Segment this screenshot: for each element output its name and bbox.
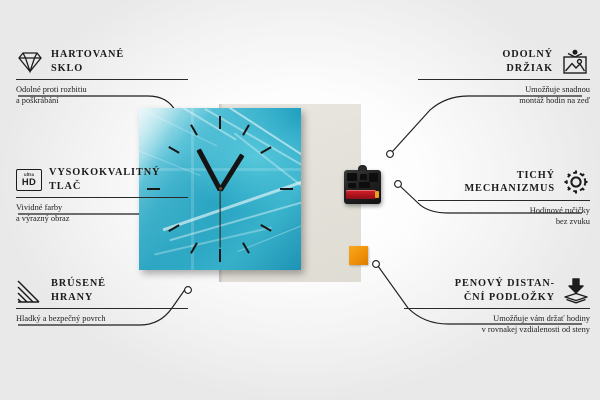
feature-title-line2: TLAČ — [49, 180, 160, 194]
feature-tempered-glass[interactable]: HARTOVANÉ SKLO Odolné proti rozbitiu a p… — [16, 48, 188, 107]
hour-marker — [219, 116, 221, 129]
feature-desc-line2: v rovnakej vzdialenosti od steny — [404, 324, 590, 335]
second-hand — [219, 190, 220, 248]
feature-title-line1: PENOVÝ DISTAN- — [455, 277, 555, 291]
feature-title-line1: HARTOVANÉ — [51, 48, 124, 62]
battery-plus-terminal — [375, 191, 379, 198]
feature-desc-line2: a poškrábání — [16, 95, 188, 106]
feature-polished-edges[interactable]: BRÚSENÉ HRANY Hladký a bezpečný povrch — [16, 277, 188, 324]
feature-foam-spacers[interactable]: PENOVÝ DISTAN- ČNÍ PODLOŽKY Umožňuje vám… — [404, 277, 590, 336]
feature-title-line1: BRÚSENÉ — [51, 277, 106, 291]
feature-desc-line1: Hodinové ručičky — [418, 205, 590, 216]
feature-divider — [404, 308, 590, 309]
feature-divider — [418, 79, 590, 80]
feature-title-line1: ODOLNÝ — [502, 48, 553, 62]
foam-spacer-pad — [349, 246, 368, 265]
diamond-icon — [16, 50, 44, 74]
gear-icon — [562, 168, 590, 196]
diagonal-hatch-icon — [16, 279, 44, 303]
hour-marker — [280, 188, 293, 190]
feature-title-line1: TICHÝ — [464, 169, 555, 183]
feature-desc-line1: Umožňuje vám držať hodiny — [404, 313, 590, 324]
feature-desc-line1: Odolné proti rozbitiu — [16, 84, 188, 95]
feature-high-quality-print[interactable]: ultra HD VYSOKOKVALITNÝ TLAČ Vividné far… — [16, 166, 188, 225]
feature-divider — [16, 197, 188, 198]
connector-dot-mechanism — [395, 181, 402, 188]
feature-desc-line1: Hladký a bezpečný povrch — [16, 313, 188, 324]
feature-desc-line1: Umožňuje snadnou — [418, 84, 590, 95]
feature-silent-mechanism[interactable]: TICHÝ MECHANIZMUS Hodinové ručičky bez z… — [418, 168, 590, 228]
feature-divider — [16, 308, 188, 309]
feature-title-line1: VYSOKOKVALITNÝ — [49, 166, 160, 180]
feature-desc-line1: Vividné farby — [16, 202, 188, 213]
clock-center-pin — [219, 187, 222, 190]
arrow-onto-layers-icon — [562, 278, 590, 304]
feature-title-line2: SKLO — [51, 62, 124, 76]
connector-dot-foam — [373, 261, 380, 268]
ultra-hd-badge-icon: ultra HD — [16, 169, 42, 191]
feature-divider — [16, 79, 188, 80]
badge-hd-label: HD — [22, 177, 36, 186]
feature-title-line2: ČNÍ PODLOŽKY — [455, 291, 555, 305]
product-feature-infographic: HARTOVANÉ SKLO Odolné proti rozbitiu a p… — [0, 0, 600, 400]
feature-durable-hanger[interactable]: ODOLNÝ DRŽIAK Umožňuje snadnou montáž ho… — [418, 48, 590, 107]
feature-title-line2: HRANY — [51, 291, 106, 305]
feature-desc-line2: a výrazný obraz — [16, 213, 188, 224]
feature-title-line2: DRŽIAK — [502, 62, 553, 76]
hour-marker — [219, 249, 221, 262]
clock-mechanism — [344, 170, 381, 204]
feature-desc-line2: bez zvuku — [418, 216, 590, 227]
feature-desc-line2: montáž hodin na zeď — [418, 95, 590, 106]
connector-dot-hanger — [387, 151, 394, 158]
battery — [346, 190, 376, 199]
hanging-picture-frame-icon — [560, 49, 590, 75]
mechanism-hanger-shaft — [358, 165, 367, 171]
feature-divider — [418, 200, 590, 201]
feature-title-line2: MECHANIZMUS — [464, 182, 555, 196]
